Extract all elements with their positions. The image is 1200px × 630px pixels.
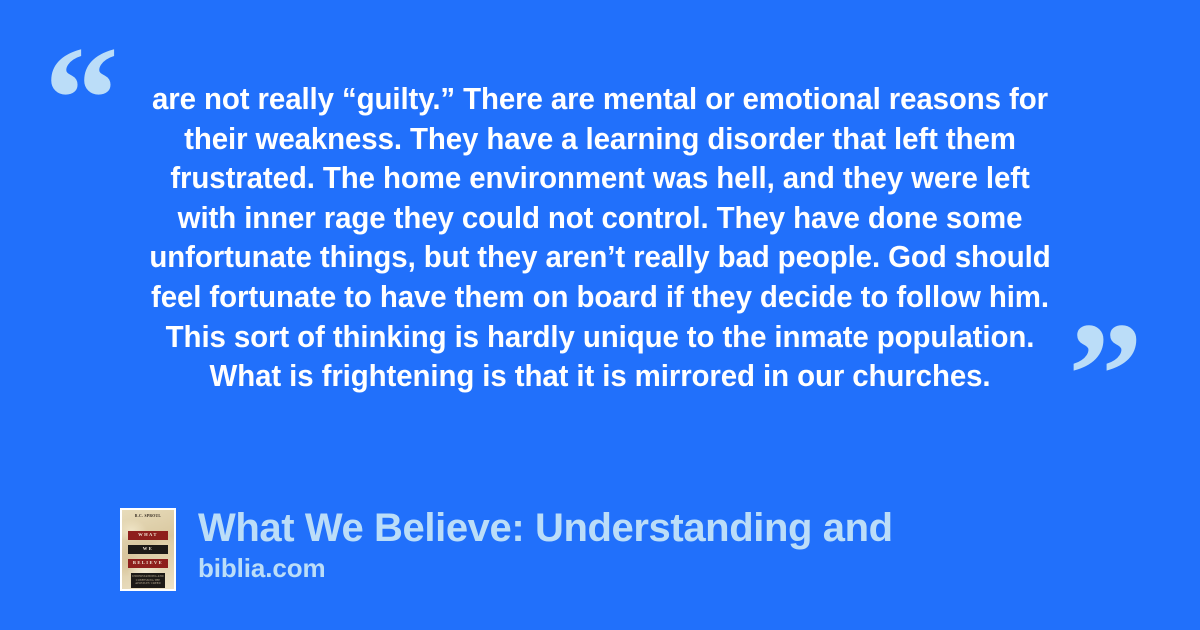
book-cover-title-line-3: BELIEVE	[128, 559, 168, 568]
book-cover-subtitle: UNDERSTANDING AND CONFESSING THE APOSTLE…	[131, 573, 165, 588]
book-cover-author: R.C. SPROUL	[122, 514, 174, 518]
footer-text: What We Believe: Understanding and bibli…	[198, 505, 893, 583]
quote-text: are not really “guilty.” There are menta…	[125, 80, 1075, 397]
book-cover-title-line-2: WE	[128, 545, 168, 554]
site-name[interactable]: biblia.com	[198, 553, 893, 583]
footer: R.C. SPROUL WHAT WE BELIEVE UNDERSTANDIN…	[120, 505, 893, 591]
book-cover-title-line-1: WHAT	[128, 531, 168, 540]
book-cover-thumbnail[interactable]: R.C. SPROUL WHAT WE BELIEVE UNDERSTANDIN…	[120, 508, 176, 591]
quote-card: “ are not really “guilty.” There are men…	[0, 0, 1200, 630]
book-title[interactable]: What We Believe: Understanding and	[198, 505, 893, 551]
book-cover-art: R.C. SPROUL WHAT WE BELIEVE UNDERSTANDIN…	[122, 510, 174, 589]
quote-block: are not really “guilty.” There are menta…	[108, 80, 1092, 397]
closing-quote-icon: ”	[1068, 300, 1143, 450]
